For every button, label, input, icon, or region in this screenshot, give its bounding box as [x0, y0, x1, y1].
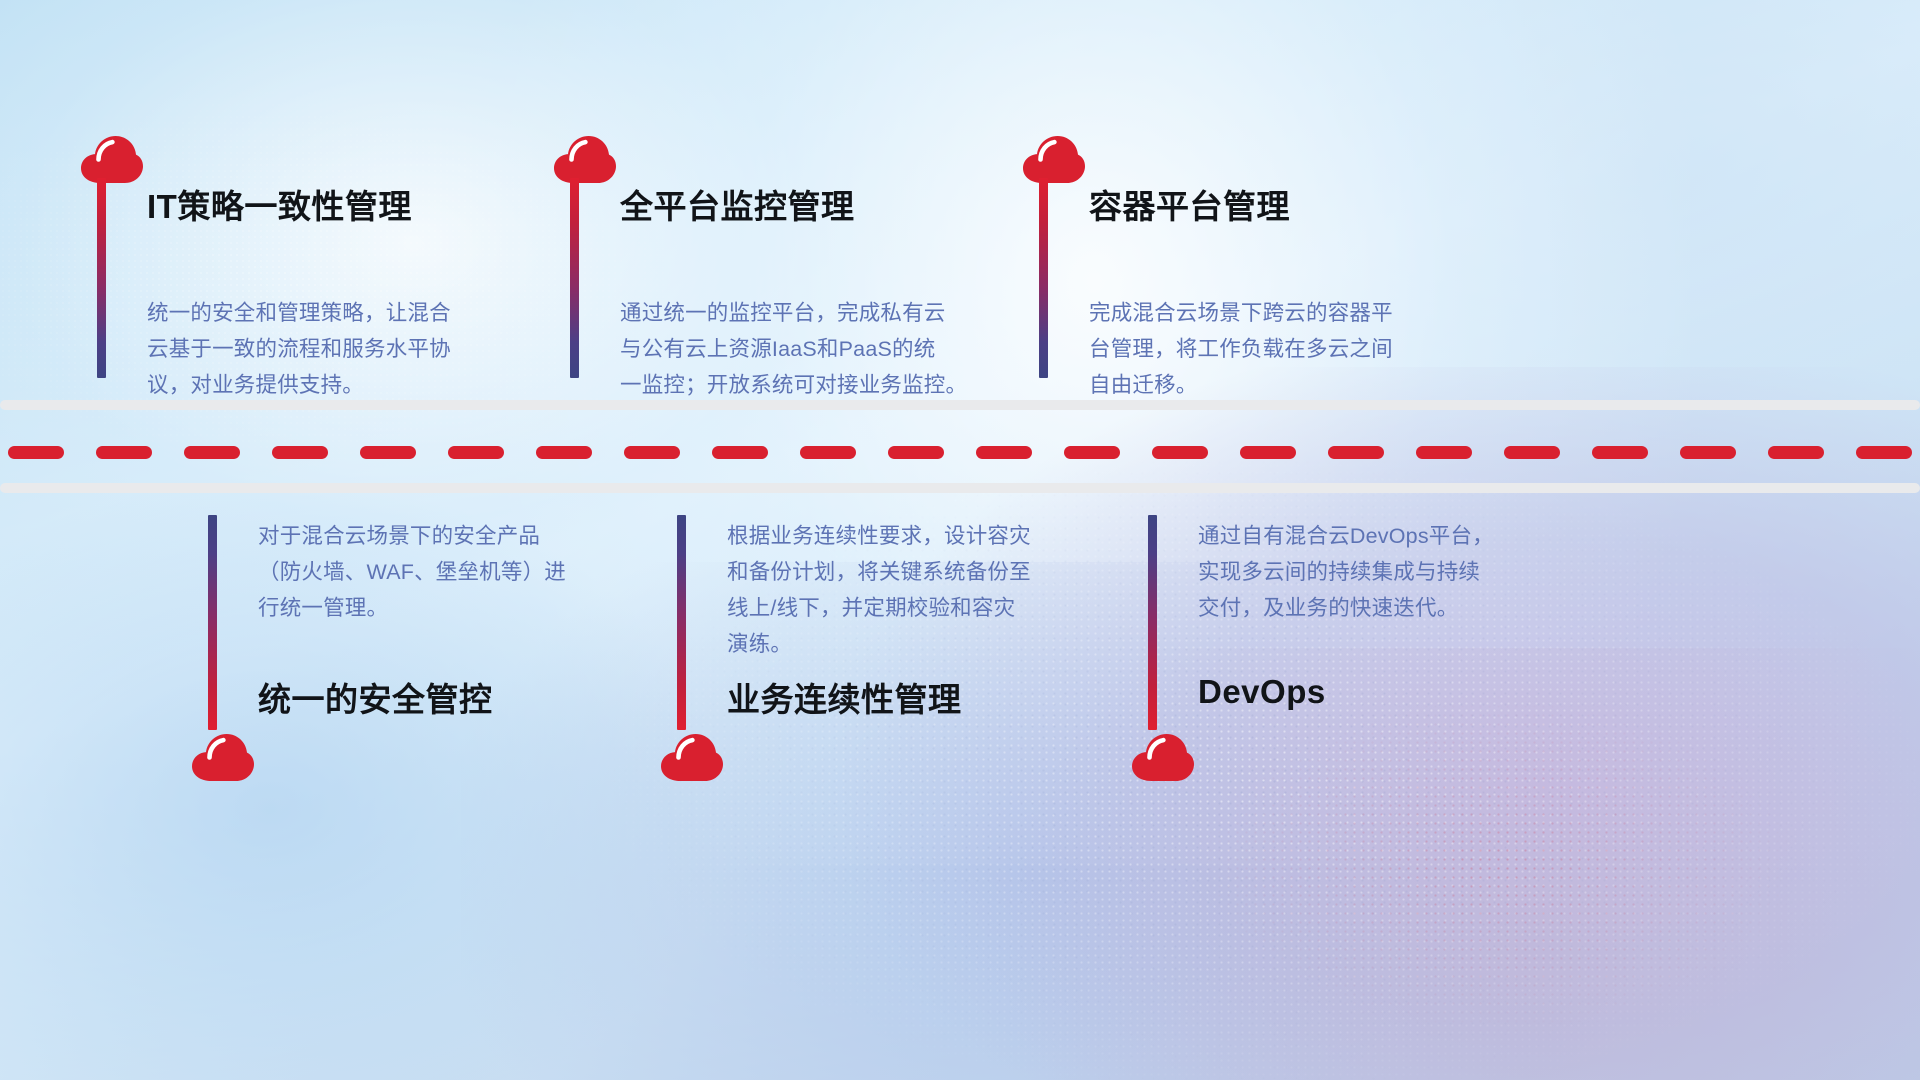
divider-dash — [360, 446, 416, 459]
divider-dash — [1680, 446, 1736, 459]
feature-title: DevOps — [1198, 673, 1326, 711]
cloud-icon — [1020, 132, 1086, 184]
divider-dash — [536, 446, 592, 459]
connector-stem — [1148, 515, 1157, 730]
divider-dash — [624, 446, 680, 459]
divider-dash — [1592, 446, 1648, 459]
divider-dash — [976, 446, 1032, 459]
divider-dash — [96, 446, 152, 459]
divider-dash — [1240, 446, 1296, 459]
feature-description: 统一的安全和管理策略，让混合 云基于一致的流程和服务水平协 议，对业务提供支持。 — [147, 295, 517, 403]
feature-title: 全平台监控管理 — [620, 180, 855, 228]
divider-dash — [1856, 446, 1912, 459]
divider-dash — [1768, 446, 1824, 459]
connector-stem — [208, 515, 217, 730]
feature-description: 对于混合云场景下的安全产品 （防火墙、WAF、堡垒机等）进 行统一管理。 — [258, 518, 638, 626]
feature-title: 业务连续性管理 — [727, 673, 962, 721]
cloud-icon — [78, 132, 144, 184]
cloud-icon — [189, 730, 255, 782]
divider-dash — [448, 446, 504, 459]
connector-stem — [97, 178, 106, 378]
divider-line-upper — [0, 400, 1920, 410]
divider-dash — [1328, 446, 1384, 459]
feature-title: 容器平台管理 — [1089, 180, 1290, 228]
divider-line-lower — [0, 483, 1920, 493]
cloud-icon — [551, 132, 617, 184]
feature-description: 根据业务连续性要求，设计容灾 和备份计划，将关键系统备份至 线上/线下，并定期校… — [727, 518, 1107, 662]
divider-dash — [184, 446, 240, 459]
divider-dash — [1152, 446, 1208, 459]
connector-stem — [1039, 178, 1048, 378]
cloud-icon — [1129, 730, 1195, 782]
feature-description: 完成混合云场景下跨云的容器平 台管理，将工作负载在多云之间 自由迁移。 — [1089, 295, 1464, 403]
connector-stem — [570, 178, 579, 378]
divider-dash — [712, 446, 768, 459]
divider-dash — [1064, 446, 1120, 459]
cloud-icon — [658, 730, 724, 782]
divider-dash — [8, 446, 64, 459]
feature-description: 通过自有混合云DevOps平台， 实现多云间的持续集成与持续 交付，及业务的快速… — [1198, 518, 1588, 626]
divider-dash — [800, 446, 856, 459]
feature-title: IT策略一致性管理 — [147, 180, 412, 228]
divider-dash — [272, 446, 328, 459]
feature-title: 统一的安全管控 — [258, 673, 493, 721]
divider-dash — [1416, 446, 1472, 459]
feature-description: 通过统一的监控平台，完成私有云 与公有云上资源IaaS和PaaS的统 一监控；开… — [620, 295, 1010, 403]
divider-dash — [888, 446, 944, 459]
divider-dash — [1504, 446, 1560, 459]
connector-stem — [677, 515, 686, 730]
